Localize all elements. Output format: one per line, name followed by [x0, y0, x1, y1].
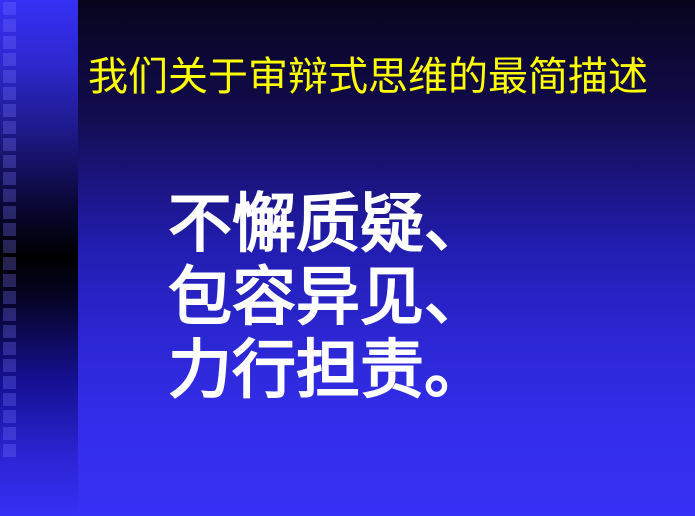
presentation-slide: 我们关于审辩式思维的最简描述 不懈质疑、 包容异见、 力行担责。: [0, 0, 695, 516]
sidebar-square: [3, 257, 16, 270]
slide-title: 我们关于审辩式思维的最简描述: [88, 52, 668, 102]
body-line-2: 包容异见、: [168, 261, 648, 334]
sidebar-square: [3, 359, 16, 372]
sidebar-square: [3, 189, 16, 202]
sidebar-square: [3, 444, 16, 457]
sidebar-square: [3, 291, 16, 304]
sidebar-square: [3, 223, 16, 236]
body-line-1: 不懈质疑、: [168, 188, 648, 261]
sidebar-square-strip: [3, 0, 17, 516]
sidebar-square: [3, 342, 16, 355]
sidebar-square: [3, 87, 16, 100]
sidebar-square: [3, 138, 16, 151]
sidebar-square: [3, 393, 16, 406]
sidebar-square: [3, 70, 16, 83]
sidebar-square: [3, 427, 16, 440]
sidebar-square: [3, 172, 16, 185]
sidebar-square: [3, 325, 16, 338]
body-line-3: 力行担责。: [168, 334, 648, 407]
sidebar-square: [3, 308, 16, 321]
sidebar-square: [3, 376, 16, 389]
sidebar-square: [3, 2, 16, 15]
sidebar-square: [3, 36, 16, 49]
sidebar-square: [3, 206, 16, 219]
slide-decorative-sidebar: [0, 0, 78, 516]
sidebar-square: [3, 274, 16, 287]
sidebar-square: [3, 19, 16, 32]
sidebar-square: [3, 121, 16, 134]
sidebar-square: [3, 104, 16, 117]
sidebar-square: [3, 410, 16, 423]
sidebar-square: [3, 53, 16, 66]
slide-body: 不懈质疑、 包容异见、 力行担责。: [168, 188, 648, 407]
sidebar-square: [3, 240, 16, 253]
sidebar-square: [3, 155, 16, 168]
